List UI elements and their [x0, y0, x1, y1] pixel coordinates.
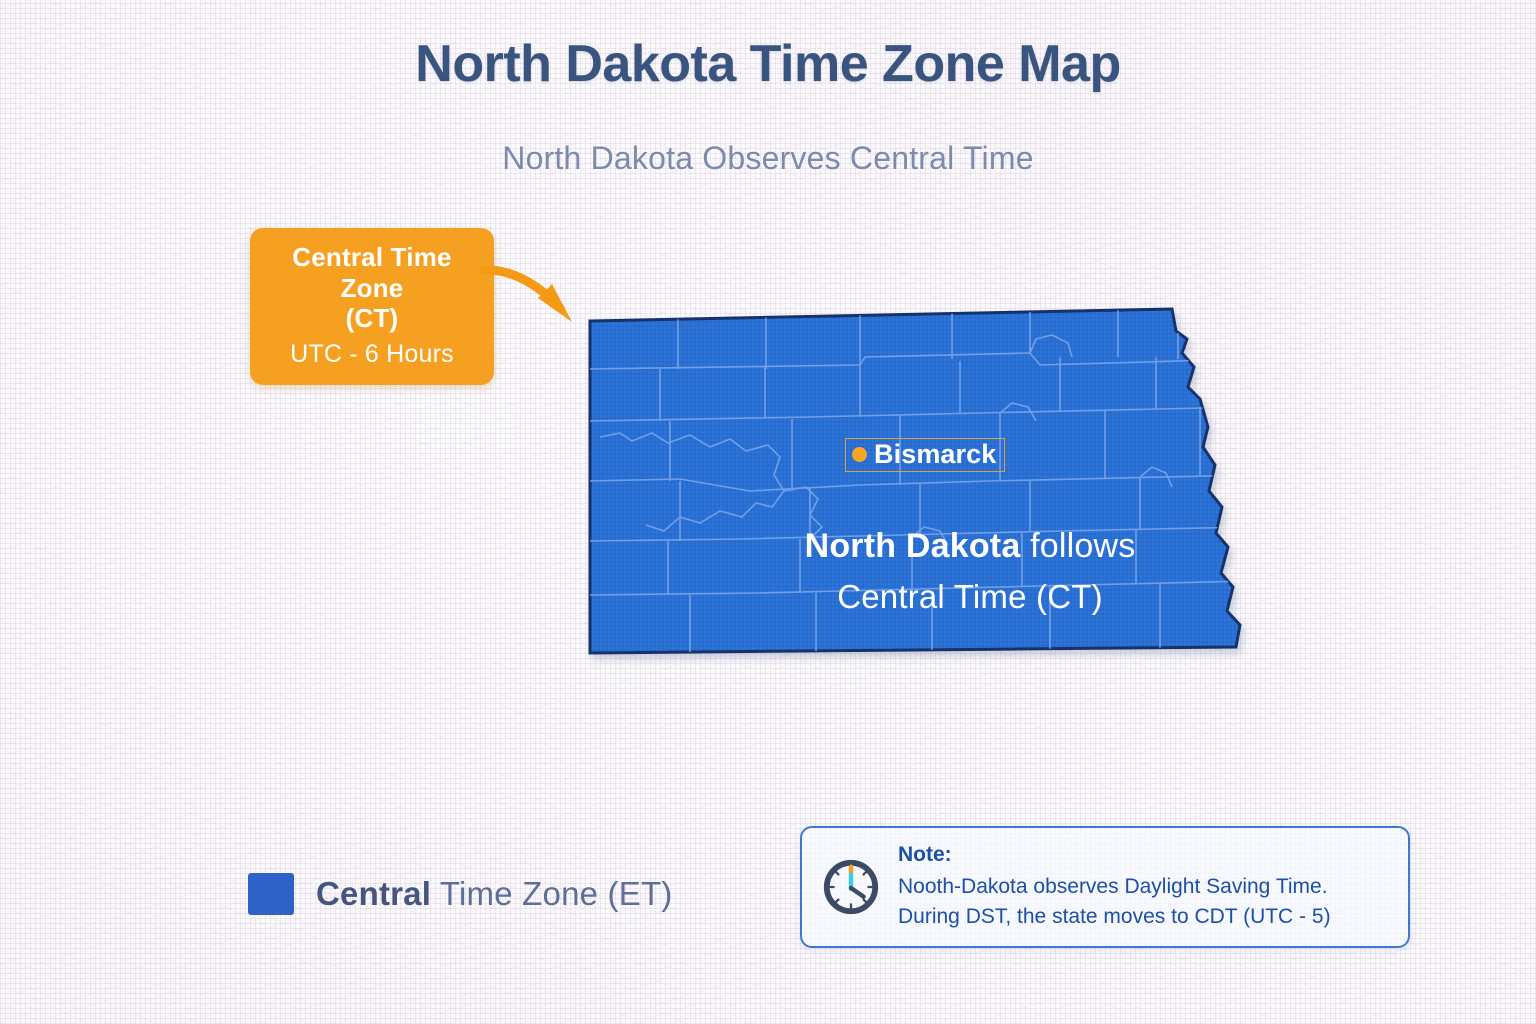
note-line-2: During DST, the state moves to CDT (UTC …: [898, 902, 1331, 932]
north-dakota-map[interactable]: [560, 295, 1280, 695]
legend-label-strong: Central: [316, 875, 431, 912]
map-caption: North Dakota follows Central Time (CT): [620, 525, 1320, 616]
callout-utc-offset: UTC - 6 Hours: [260, 340, 484, 369]
map-caption-zone: Central Time (CT): [620, 578, 1320, 616]
city-name: Bismarck: [874, 441, 996, 468]
callout-zone-line1: Central Time: [260, 242, 484, 273]
note-title: Note:: [898, 843, 1331, 867]
note-line-1: Nooth-Dakota observes Daylight Saving Ti…: [898, 872, 1331, 902]
note-box: Note: Nooth-Dakota observes Daylight Sav…: [800, 826, 1410, 948]
legend-swatch-central: [248, 873, 294, 915]
map-caption-verb: follows: [1020, 527, 1135, 565]
map-svg: [560, 295, 1280, 695]
legend-label-rest: Time Zone (ET): [431, 875, 672, 912]
clock-icon: [820, 856, 882, 918]
page-subtitle: North Dakota Observes Central Time: [0, 140, 1536, 177]
page-title: North Dakota Time Zone Map: [0, 34, 1536, 94]
legend-label: Central Time Zone (ET): [316, 875, 673, 913]
callout-zone-line2: Zone: [260, 273, 484, 304]
map-caption-state: North Dakota: [805, 527, 1021, 565]
city-label-bismarck[interactable]: Bismarck: [845, 438, 1005, 472]
note-text: Note: Nooth-Dakota observes Daylight Sav…: [898, 843, 1331, 932]
legend: Central Time Zone (ET): [248, 873, 673, 915]
callout-zone-abbr: (CT): [260, 303, 484, 334]
city-dot-icon: [852, 447, 867, 462]
time-zone-callout: Central Time Zone (CT) UTC - 6 Hours: [250, 228, 494, 385]
